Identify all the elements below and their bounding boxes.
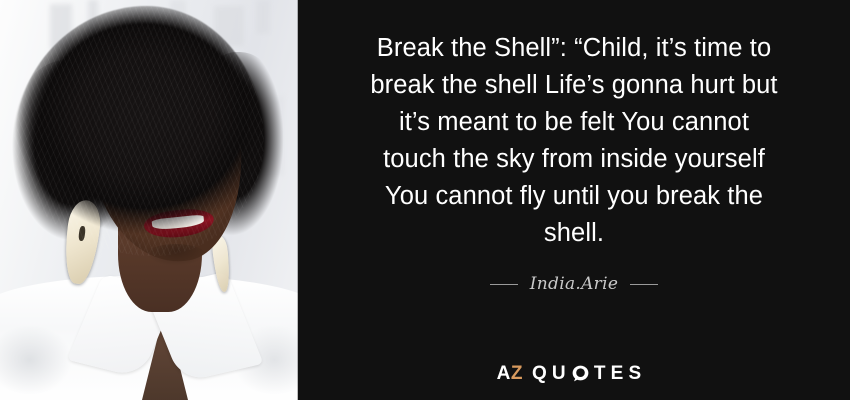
logo-az-wordmark: AZ [497, 364, 523, 383]
logo-letter-e: E [611, 364, 626, 383]
quote-text: Break the Shell”: “Child, it’s time to b… [331, 30, 817, 252]
logo-quotes-wordmark: Q U T E S [532, 364, 643, 383]
logo-letter-t: T [594, 364, 608, 383]
author-attribution[interactable]: India.Arie [490, 274, 658, 294]
speech-bubble-o-icon [572, 365, 589, 382]
azquotes-logo[interactable]: AZ Q U T E S [298, 364, 850, 383]
quote-line: touch the sky from inside yourself [331, 141, 817, 178]
author-portrait-photo [0, 0, 298, 400]
quote-line: Break the Shell”: “Child, it’s time to [331, 30, 817, 67]
quote-card: Break the Shell”: “Child, it’s time to b… [0, 0, 850, 400]
quote-line: You cannot fly until you break the [331, 178, 817, 215]
quote-line: shell. [331, 215, 817, 252]
logo-letter-z: Z [511, 363, 523, 384]
logo-letter-s: S [629, 364, 644, 383]
quote-line: it’s meant to be felt You cannot [331, 104, 817, 141]
logo-letter-u: U [552, 364, 568, 383]
logo-letter-a: A [497, 363, 511, 384]
author-name[interactable]: India.Arie [530, 274, 618, 294]
dash-right-icon [630, 284, 658, 285]
logo-letter-q: Q [532, 364, 549, 383]
backdrop-logo-mark [256, 0, 270, 34]
quote-line: break the shell Life’s gonna hurt but [331, 67, 817, 104]
dash-left-icon [490, 284, 518, 285]
quote-panel: Break the Shell”: “Child, it’s time to b… [298, 0, 850, 400]
